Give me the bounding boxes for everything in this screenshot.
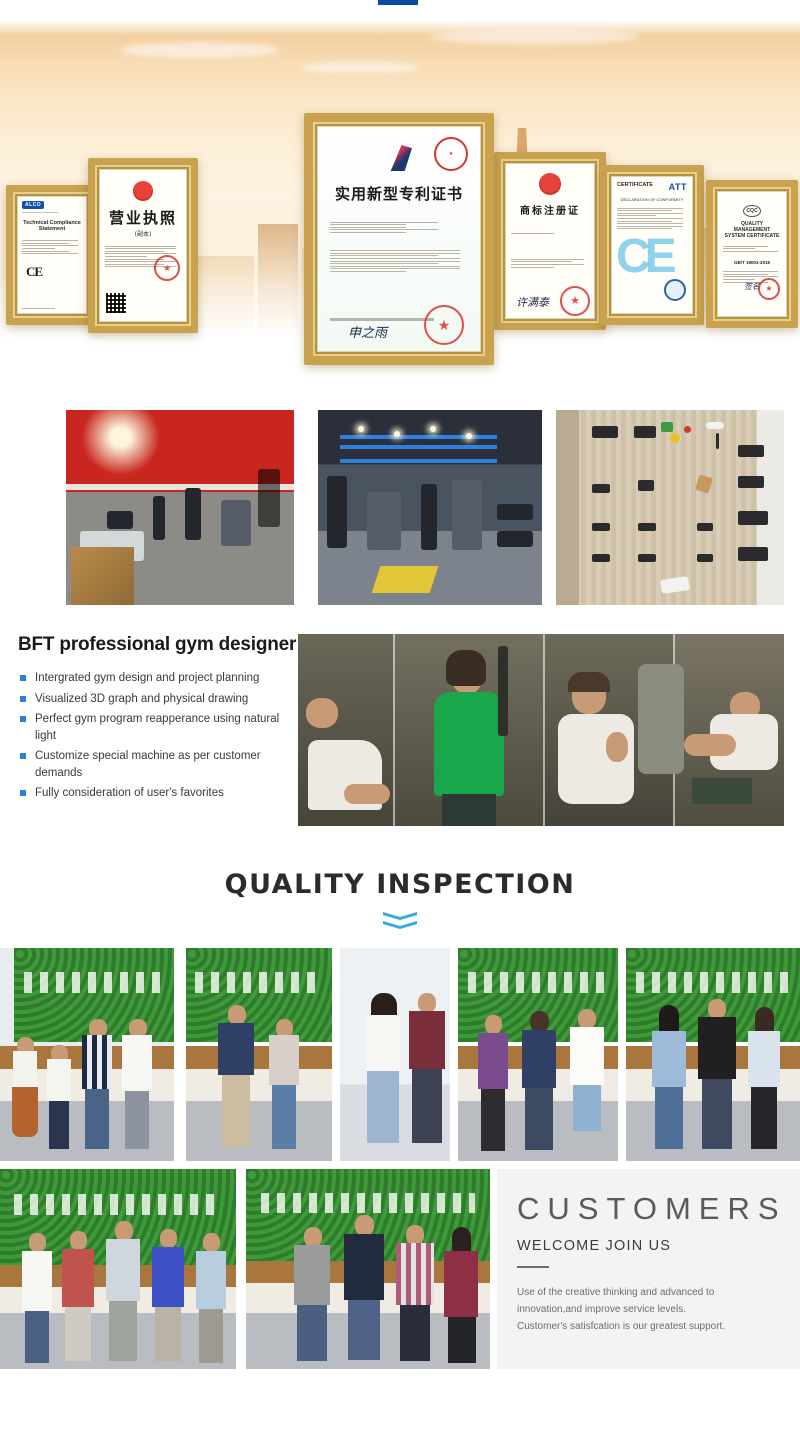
customers-subtitle: WELCOME JOIN US xyxy=(517,1238,800,1254)
list-item: Fully consideration of user's favorites xyxy=(18,785,293,802)
accreditation-logo-icon xyxy=(664,279,686,301)
signature: 申之雨 xyxy=(348,322,387,341)
certificate-trademark: 商标注册证 许满泰 ★ xyxy=(494,152,606,330)
inspection-photo-1 xyxy=(0,948,174,1161)
list-item: Perfect gym program reapperance using na… xyxy=(18,711,293,744)
patent-logo-icon xyxy=(386,145,412,171)
official-seal-icon: ★ xyxy=(438,318,451,332)
certificate-quality-management: CQC QUALITY MANAGEMENT SYSTEM CERTIFICAT… xyxy=(706,180,798,328)
cert-subtitle: DECLARATION OF CONFORMITY xyxy=(621,197,684,202)
inspection-photo-grid-row-2: CUSTOMERS WELCOME JOIN US Use of the cre… xyxy=(0,1169,800,1369)
certificate-att-ce: CERTIFICATE ATT DECLARATION OF CONFORMIT… xyxy=(600,165,704,325)
inspection-photo-7 xyxy=(246,1169,490,1369)
customers-body: Use of the creative thinking and advance… xyxy=(517,1284,800,1335)
customers-body-line: Customer's satisfcation is our greatest … xyxy=(517,1318,800,1335)
ce-mark-icon: CE xyxy=(26,264,42,280)
double-chevron-down-icon xyxy=(383,912,417,934)
list-item: Intergrated gym design and project plann… xyxy=(18,670,293,687)
customers-title: CUSTOMERS xyxy=(517,1193,800,1224)
gym-showcase-row xyxy=(0,400,800,620)
inspection-photo-4 xyxy=(458,948,618,1161)
national-emblem-icon xyxy=(133,181,153,201)
qr-code-icon xyxy=(106,293,126,313)
cert-badge-logo: ALCO xyxy=(22,201,44,209)
standard-code: GB/T 19001-2016 xyxy=(734,260,770,265)
list-item-label: Visualized 3D graph and physical drawing xyxy=(35,693,248,705)
company-profile-page: ALCO Technical Compliance Statement CE 营… xyxy=(0,0,800,1369)
national-emblem-icon xyxy=(539,173,561,195)
cert-title: QUALITY MANAGEMENT SYSTEM CERTIFICATE xyxy=(723,222,781,239)
bullet-square-icon xyxy=(20,790,26,796)
divider xyxy=(517,1266,549,1268)
gym-photo-modern-interior xyxy=(318,410,542,605)
official-seal-icon: ★ xyxy=(570,296,580,307)
quality-inspection-header: QUALITY INSPECTION xyxy=(0,845,800,934)
inspection-photo-2 xyxy=(186,948,332,1161)
quality-inspection-section: QUALITY INSPECTION xyxy=(0,845,800,1369)
list-item-label: Intergrated gym design and project plann… xyxy=(35,672,259,684)
certificates-banner: ALCO Technical Compliance Statement CE 营… xyxy=(0,0,800,400)
customers-panel: CUSTOMERS WELCOME JOIN US Use of the cre… xyxy=(497,1169,800,1369)
inspection-photo-5 xyxy=(626,948,800,1161)
bullet-square-icon xyxy=(20,696,26,702)
cert-title: 营业执照 xyxy=(109,207,177,228)
patent-seal-icon: ★ xyxy=(434,137,468,171)
inspection-photo-6 xyxy=(0,1169,236,1369)
official-seal-icon: ★ xyxy=(765,285,772,293)
certificate-business-license: 营业执照 (副本) ★ xyxy=(88,158,198,333)
bullet-square-icon xyxy=(20,716,26,722)
customers-body-line: innovation,and improve service levels. xyxy=(517,1301,800,1318)
bullet-square-icon xyxy=(20,675,26,681)
gym-photo-red-interior xyxy=(66,410,294,605)
list-item-label: Fully consideration of user's favorites xyxy=(35,787,224,799)
ce-mark-icon: CE xyxy=(616,229,671,284)
designer-feature-list: Intergrated gym design and project plann… xyxy=(18,670,293,806)
inspection-photo-grid-row-1 xyxy=(0,948,800,1161)
cert-title: 商标注册证 xyxy=(520,202,580,217)
designer-heading: BFT professional gym designer xyxy=(18,634,296,656)
cert-badge-logo: ATT xyxy=(669,182,687,192)
signature: 许满泰 xyxy=(516,294,549,310)
list-item-label: Customize special machine as per custome… xyxy=(35,750,261,779)
certificate-utility-patent: ★ 实用新型专利证书 申之雨 ★ xyxy=(304,113,494,365)
list-item: Customize special machine as per custome… xyxy=(18,748,293,781)
gym-designer-section: BFT professional gym designer Intergrate… xyxy=(0,620,800,845)
cert-title: Technical Compliance Statement xyxy=(22,220,82,233)
bullet-square-icon xyxy=(20,753,26,759)
certificate-technical-compliance: ALCO Technical Compliance Statement CE xyxy=(6,185,98,325)
official-seal-icon: ★ xyxy=(163,264,171,273)
inspection-photo-3 xyxy=(340,948,450,1161)
cert-title: 实用新型专利证书 xyxy=(335,183,463,204)
cert-subtitle: (副本) xyxy=(135,229,152,238)
top-bar-stub xyxy=(378,0,418,5)
cert-title: CERTIFICATE xyxy=(617,182,653,188)
customers-body-line: Use of the creative thinking and advance… xyxy=(517,1284,800,1301)
cqc-logo-icon: CQC xyxy=(743,205,761,217)
list-item-label: Perfect gym program reapperance using na… xyxy=(35,713,279,742)
section-title: QUALITY INSPECTION xyxy=(0,869,800,900)
list-item: Visualized 3D graph and physical drawing xyxy=(18,691,293,708)
designer-photo xyxy=(298,634,784,826)
gym-photo-showroom-wall xyxy=(556,410,784,605)
